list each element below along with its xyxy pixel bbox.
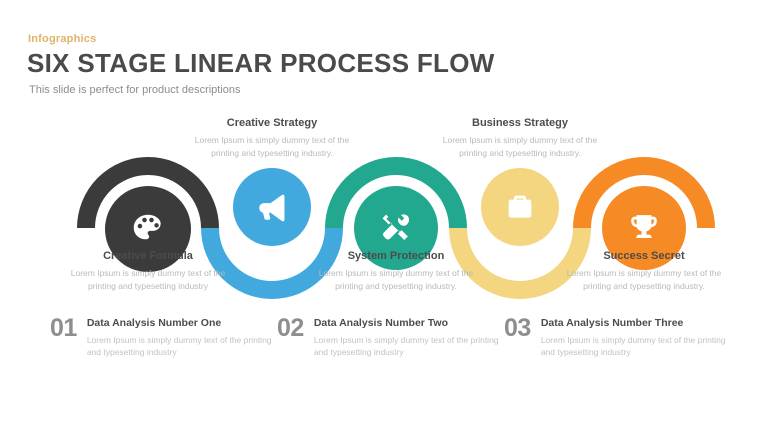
stat-item-03[interactable]: 03 Data Analysis Number Three Lorem Ipsu… <box>504 316 739 359</box>
stat-item-02[interactable]: 02 Data Analysis Number Two Lorem Ipsum … <box>277 316 502 359</box>
palette-icon <box>129 210 167 248</box>
caption-body: Lorem Ipsum is simply dummy text of the … <box>315 267 477 293</box>
caption-title: Success Secret <box>563 250 725 263</box>
briefcase-icon <box>504 191 536 223</box>
caption-system-protection: System Protection Lorem Ipsum is simply … <box>315 250 477 294</box>
stat-number: 03 <box>504 316 531 341</box>
caption-body: Lorem Ipsum is simply dummy text of the … <box>192 134 352 160</box>
stat-title: Data Analysis Number Three <box>541 317 739 330</box>
caption-title: System Protection <box>315 250 477 263</box>
flow-node-business-strategy[interactable] <box>481 168 559 246</box>
slide-canvas: Infographics SIX STAGE LINEAR PROCESS FL… <box>0 0 768 432</box>
caption-business-strategy: Business Strategy Lorem Ipsum is simply … <box>439 117 601 161</box>
caption-body: Lorem Ipsum is simply dummy text of the … <box>439 134 601 160</box>
flow-node-creative-strategy[interactable] <box>233 168 311 246</box>
stat-item-01[interactable]: 01 Data Analysis Number One Lorem Ipsum … <box>50 316 275 359</box>
caption-title: Creative Strategy <box>192 117 352 130</box>
caption-title: Business Strategy <box>439 117 601 130</box>
kicker-label: Infographics <box>28 33 96 45</box>
stat-body: Lorem Ipsum is simply dummy text of the … <box>541 334 739 360</box>
stat-body: Lorem Ipsum is simply dummy text of the … <box>314 334 502 360</box>
stat-body: Lorem Ipsum is simply dummy text of the … <box>87 334 275 360</box>
stat-number: 02 <box>277 316 304 341</box>
caption-success-secret: Success Secret Lorem Ipsum is simply dum… <box>563 250 725 294</box>
caption-body: Lorem Ipsum is simply dummy text of the … <box>68 267 228 293</box>
page-subtitle: This slide is perfect for product descri… <box>29 84 241 96</box>
caption-title: Creative Formula <box>68 250 228 263</box>
trophy-icon <box>627 211 661 245</box>
stat-title: Data Analysis Number One <box>87 317 275 330</box>
megaphone-icon <box>255 190 289 224</box>
stat-number: 01 <box>50 316 77 341</box>
caption-body: Lorem Ipsum is simply dummy text of the … <box>563 267 725 293</box>
stat-title: Data Analysis Number Two <box>314 317 502 330</box>
stats-row: 01 Data Analysis Number One Lorem Ipsum … <box>0 316 768 386</box>
tools-icon <box>378 210 414 246</box>
caption-creative-strategy: Creative Strategy Lorem Ipsum is simply … <box>192 117 352 161</box>
page-title: SIX STAGE LINEAR PROCESS FLOW <box>27 48 495 79</box>
caption-creative-formula: Creative Formula Lorem Ipsum is simply d… <box>68 250 228 294</box>
